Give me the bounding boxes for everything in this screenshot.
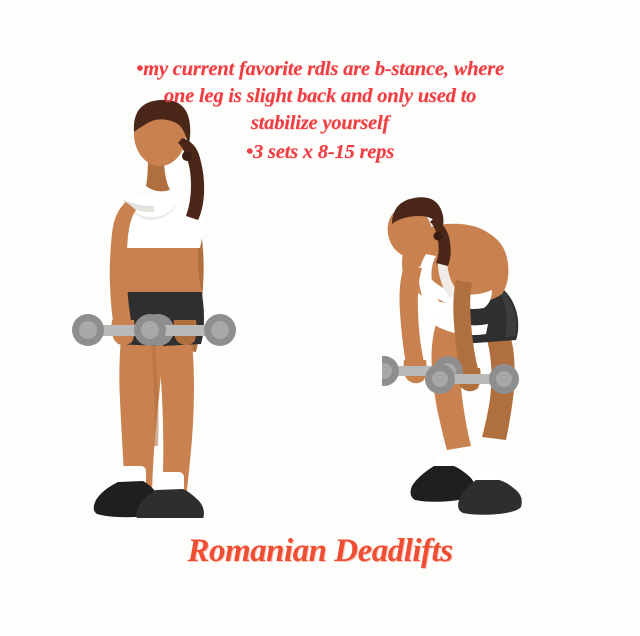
infographic-canvas: •my current favorite rdls are b-stance, … xyxy=(0,0,640,636)
exercise-title: Romanian Deadlifts xyxy=(0,533,640,570)
figure-hip-hinge-bottom-position xyxy=(382,196,582,522)
hair-tie xyxy=(182,151,192,161)
hair-tie xyxy=(434,232,443,241)
figure-standing-start-position xyxy=(50,98,250,518)
cue-line-1: •my current favorite rdls are b-stance, … xyxy=(0,56,640,83)
